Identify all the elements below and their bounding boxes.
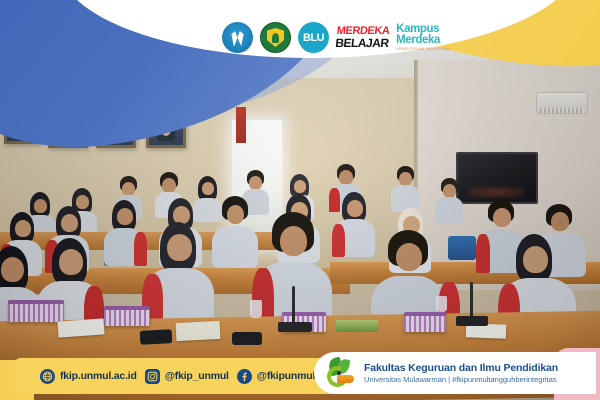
facebook-icon [237, 369, 252, 384]
microphone-stand [470, 282, 473, 318]
wall-portrait [146, 112, 186, 148]
merdeka-belajar-line2: BELAJAR [335, 37, 389, 49]
textbook [336, 320, 378, 332]
wall-portrait [48, 112, 88, 148]
social-media-bar: fkip.unmul.ac.id @fkip_unmul @fkipunmulo… [14, 358, 354, 394]
mobile-phone [140, 329, 173, 345]
notebook [176, 321, 221, 341]
blu-logo: BLU [298, 22, 329, 53]
faculty-title: Fakultas Keguruan dan Ilmu Pendidikan [364, 362, 558, 375]
universitas-mulawarman-logo [260, 22, 291, 53]
kemdikbud-tutwurihandayani-logo [222, 22, 253, 53]
partner-logo-row: BLU MERDEKA BELAJAR Kampus Merdeka KEMEN… [222, 22, 450, 53]
wall-portrait [96, 112, 136, 148]
snack-box [8, 300, 64, 322]
microphone-base [278, 322, 312, 332]
instagram-handle: @fkip_unmul [165, 370, 229, 382]
air-conditioner-vent [540, 108, 584, 113]
website-link[interactable]: fkip.unmul.ac.id [40, 369, 137, 384]
wall-portrait [4, 110, 42, 144]
faculty-text-block: Fakultas Keguruan dan Ilmu Pendidikan Un… [364, 362, 558, 385]
snack-box [404, 312, 446, 332]
classroom-photograph [0, 0, 600, 400]
television-reflection [468, 186, 524, 198]
faculty-identity-bar: Fakultas Keguruan dan Ilmu Pendidikan Un… [314, 352, 596, 394]
kampus-merdeka-logo: Kampus Merdeka KEMENTERIAN PENDIDIKAN [396, 24, 450, 52]
tut-wuri-handayani-icon [229, 29, 246, 46]
drinking-cup [436, 296, 447, 312]
merdeka-belajar-logo: MERDEKA BELAJAR [335, 26, 391, 49]
drinking-cup [250, 300, 262, 318]
mobile-phone [232, 332, 262, 345]
poster-canvas: BLU MERDEKA BELAJAR Kampus Merdeka KEMEN… [0, 0, 600, 400]
shield-icon [267, 28, 284, 47]
paper-document [57, 318, 104, 337]
fkip-mascot-logo [326, 358, 356, 388]
red-wall-strip [236, 107, 246, 143]
kampus-merdeka-line3: KEMENTERIAN PENDIDIKAN [396, 48, 450, 51]
instagram-icon [145, 369, 160, 384]
microphone-base [456, 316, 488, 326]
instagram-link[interactable]: @fkip_unmul [145, 369, 229, 384]
kampus-merdeka-line2: Merdeka [396, 35, 450, 47]
blu-logo-text: BLU [303, 32, 324, 44]
globe-icon [40, 369, 55, 384]
faculty-subtitle: Universitas Mulawarman | #fkipunmultangg… [364, 375, 558, 384]
mascot-eye [337, 371, 341, 375]
website-handle: fkip.unmul.ac.id [60, 370, 137, 382]
snack-box [104, 306, 150, 326]
microphone-stand [292, 286, 295, 324]
mascot-beak [337, 375, 354, 383]
ceiling-light [152, 64, 166, 69]
classroom-chair [448, 236, 476, 260]
